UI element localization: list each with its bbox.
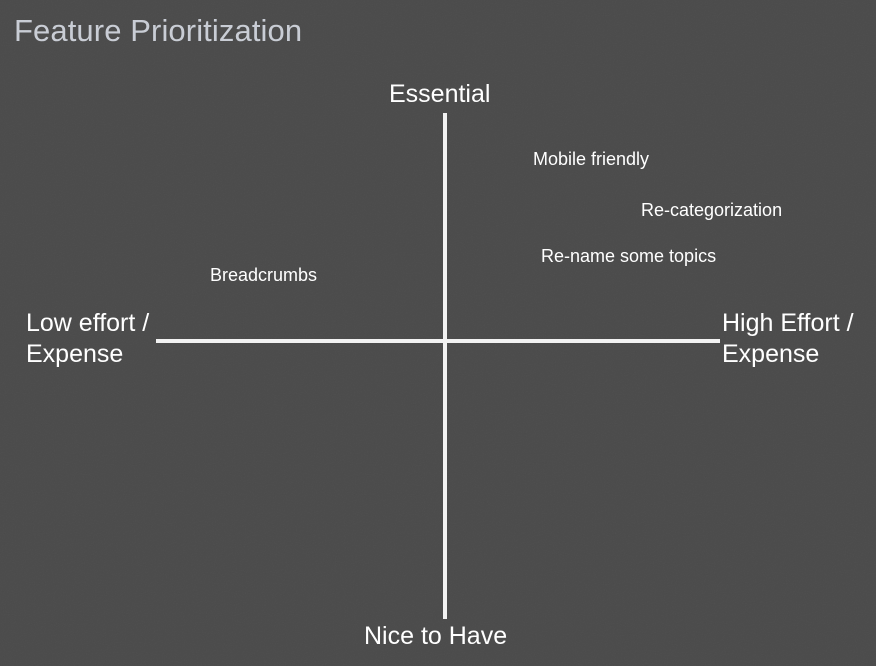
horizontal-axis-line xyxy=(156,339,720,343)
page-title: Feature Prioritization xyxy=(14,12,302,50)
feature-label: Breadcrumbs xyxy=(210,264,317,286)
feature-prioritization-slide: Feature Prioritization Essential Nice to… xyxy=(0,0,876,666)
feature-label: Re-categorization xyxy=(641,199,782,221)
axis-label-nice-to-have: Nice to Have xyxy=(364,621,507,652)
axis-label-essential: Essential xyxy=(389,79,490,110)
axis-label-high-effort-expense: High Effort / Expense xyxy=(722,308,854,370)
axis-label-low-effort-expense: Low effort / Expense xyxy=(26,308,149,370)
vertical-axis-line xyxy=(443,113,447,619)
feature-label: Mobile friendly xyxy=(533,148,649,170)
feature-label: Re-name some topics xyxy=(541,245,716,267)
